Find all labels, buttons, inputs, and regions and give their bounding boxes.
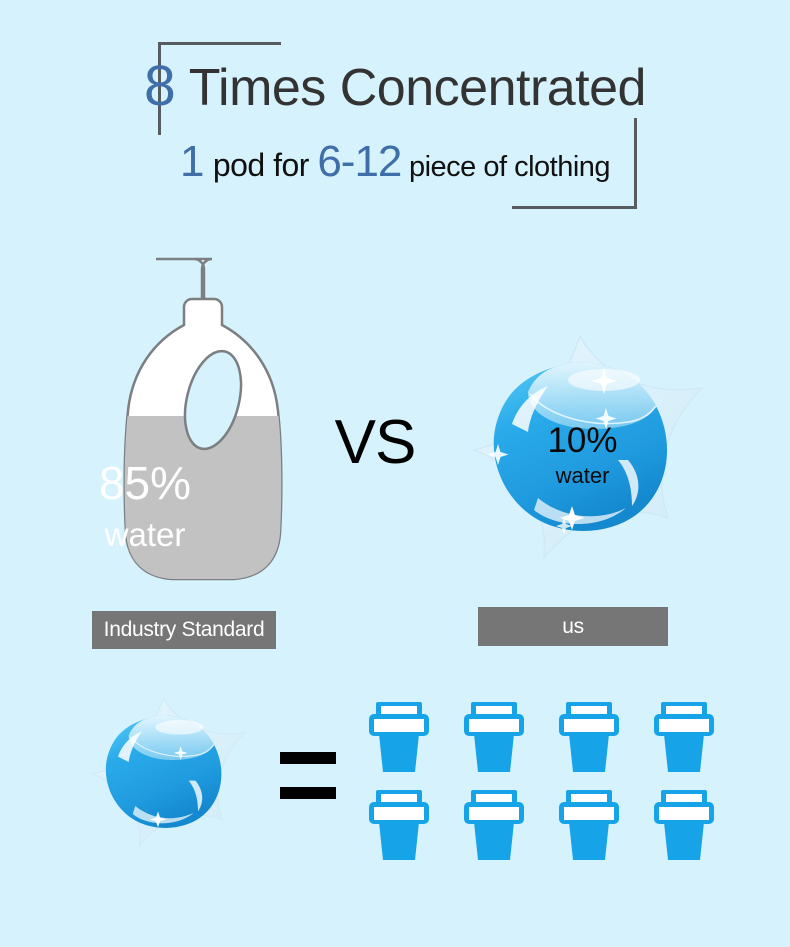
headline-secondary: 1 pod for 6-12 piece of clothing — [0, 140, 790, 184]
measuring-cup-icon — [558, 700, 620, 774]
equals-bar-bottom — [280, 787, 336, 799]
measuring-cup-icon — [558, 788, 620, 862]
headline-clothing-text: piece of clothing — [409, 151, 610, 183]
headline-primary: 8 Times Concentrated — [0, 58, 790, 115]
measuring-cup-icon — [368, 700, 430, 774]
versus-label: VS — [300, 412, 450, 474]
measuring-cup-icon — [653, 700, 715, 774]
measuring-cup-icon — [653, 788, 715, 862]
measuring-cup-grid — [368, 700, 708, 868]
headline-concentration-text: Times Concentrated — [189, 59, 646, 117]
pod-water-label: water — [465, 465, 700, 487]
headline-clothing-range: 6-12 — [317, 137, 401, 186]
pod-svg-small — [78, 694, 258, 862]
banner-us: us — [478, 607, 668, 646]
header-section: 8 Times Concentrated 1 pod for 6-12 piec… — [0, 0, 790, 225]
bottle-water-percent: 85% — [0, 460, 290, 506]
banner-industry-standard-label: Industry Standard — [104, 618, 265, 642]
banner-us-label: us — [562, 615, 584, 639]
infographic-canvas: 8 Times Concentrated 1 pod for 6-12 piec… — [0, 0, 790, 947]
banner-industry-standard: Industry Standard — [92, 611, 276, 649]
measuring-cup-icon — [463, 700, 525, 774]
detergent-pod-illustration-small — [78, 694, 258, 862]
measuring-cup-icon — [463, 788, 525, 862]
measuring-cup-icon — [368, 788, 430, 862]
headline-pod-count: 1 — [180, 137, 204, 186]
equals-sign — [280, 752, 336, 799]
headline-concentration-number: 8 — [144, 54, 175, 118]
pod-water-percent: 10% — [465, 423, 700, 458]
bottle-water-label: water — [0, 518, 290, 551]
headline-pod-for-text: pod for — [213, 147, 309, 183]
equals-bar-top — [280, 752, 336, 764]
